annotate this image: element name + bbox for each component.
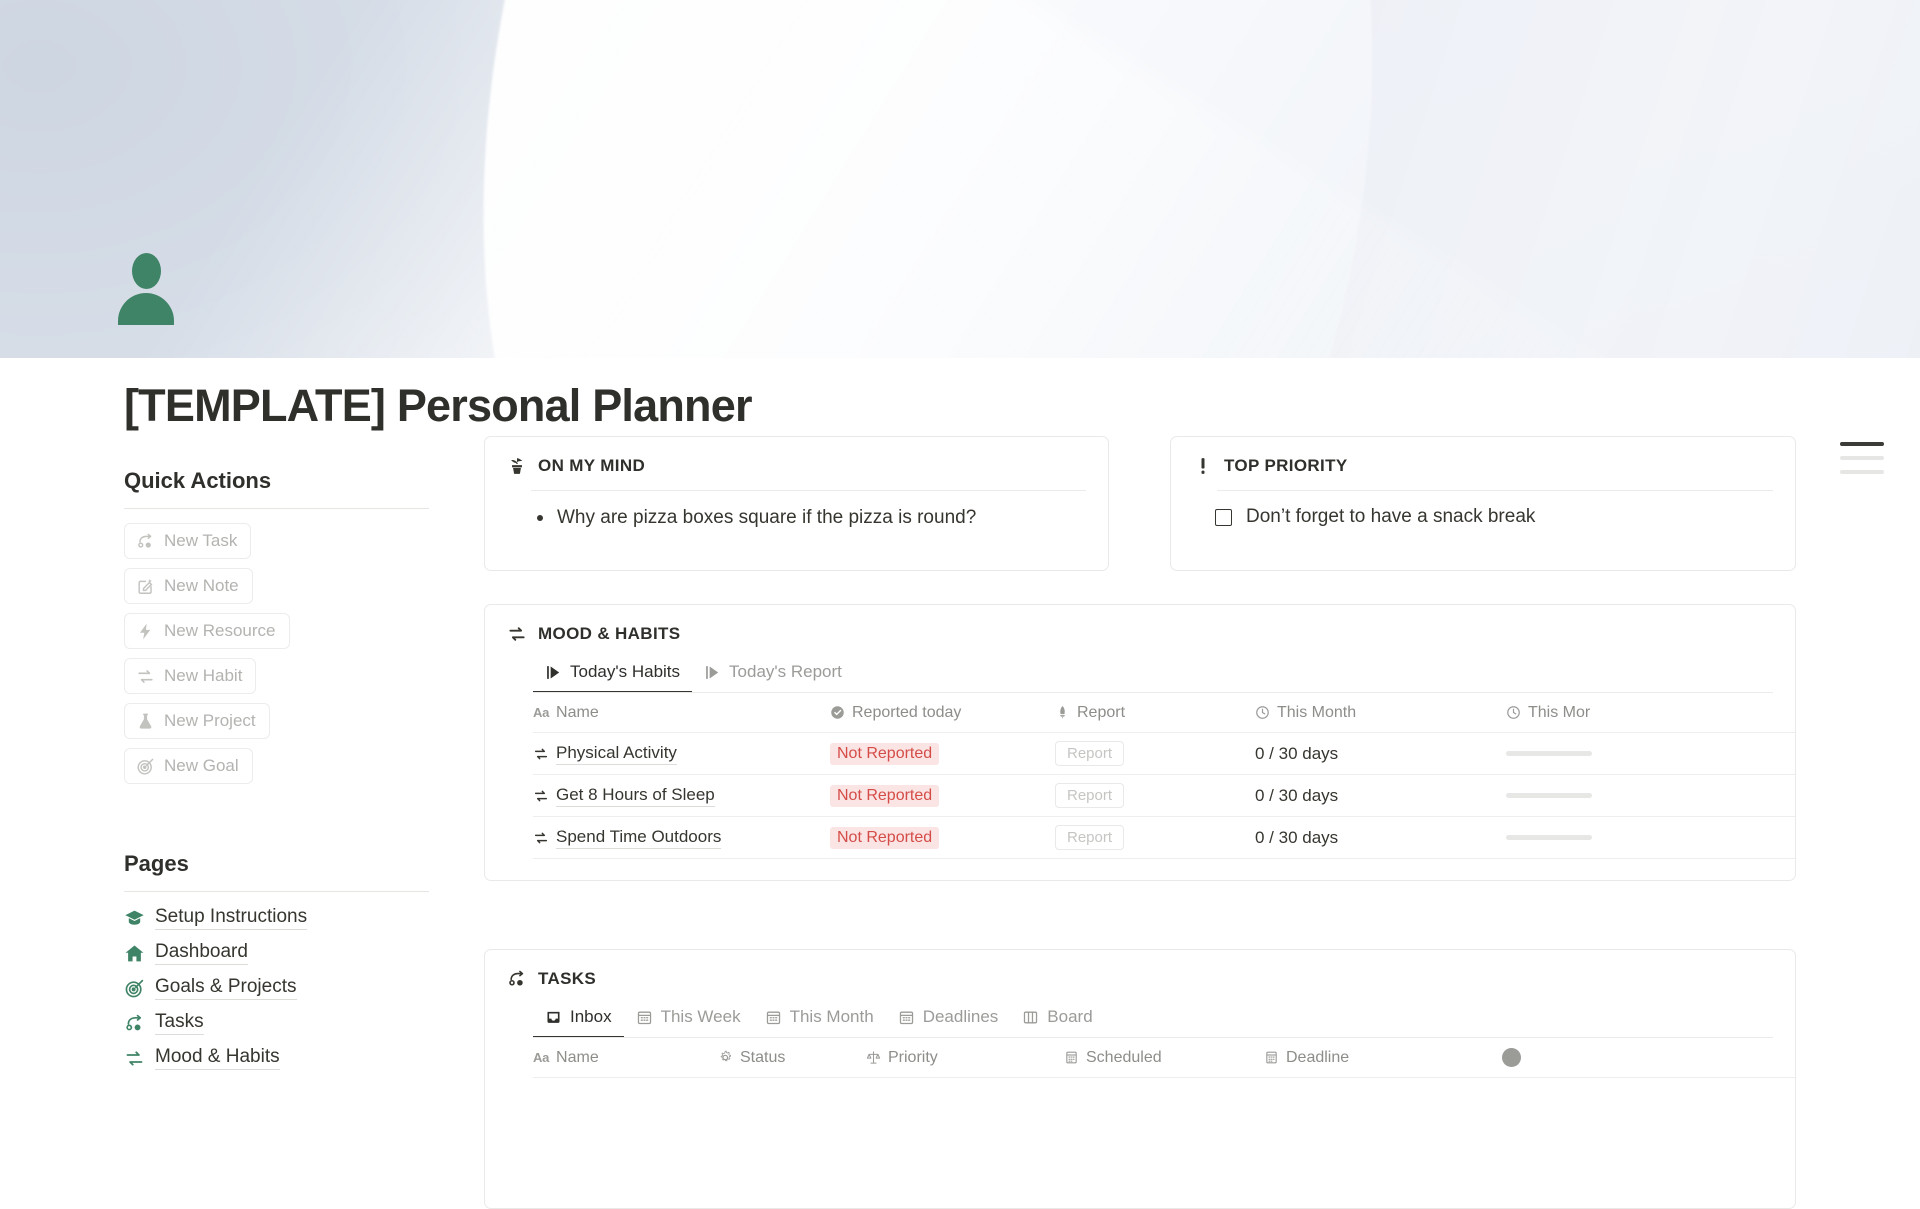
scales-icon [866,1050,881,1065]
sidebar-item-mood-habits[interactable]: Mood & Habits [124,1046,429,1070]
sidebar: Quick Actions New Task New Note New Reso… [124,468,429,1081]
avatar-head [132,253,161,289]
table-header-row: Aa Name Status Priority Scheduled [533,1038,1795,1078]
column-header-status[interactable]: Status [718,1038,866,1077]
table-row[interactable]: Physical Activity Not Reported Report 0 … [533,733,1795,775]
on-my-mind-card: ON MY MIND Why are pizza boxes square if… [484,436,1109,571]
card-header: TOP PRIORITY [1171,437,1795,477]
target-icon [136,757,155,776]
column-header-reported-today[interactable]: Reported today [830,693,1055,732]
home-icon [124,943,145,964]
calendar-icon [1264,1050,1279,1065]
pages-section: Pages Setup Instructions Dashboard Goals… [124,851,429,1070]
quick-action-new-note[interactable]: New Note [124,568,429,613]
habit-name-cell[interactable]: Get 8 Hours of Sleep [533,775,830,816]
quick-action-label: New Project [164,711,256,731]
habit-name[interactable]: Spend Time Outdoors [556,827,721,849]
column-header-name[interactable]: Aa Name [533,1038,718,1077]
quick-action-label: New Note [164,576,239,596]
play-icon [704,664,721,681]
repeat-icon [136,667,155,686]
bullet-icon [537,515,543,521]
flask-icon [136,712,155,731]
toc-line-3[interactable] [1840,470,1884,474]
graduation-cap-icon [124,908,145,929]
tasks-table: Aa Name Status Priority Scheduled [533,1038,1795,1078]
habit-name[interactable]: Get 8 Hours of Sleep [556,785,715,807]
avatar-body [118,293,174,325]
column-header-priority[interactable]: Priority [866,1038,1064,1077]
this-month-progress-cell [1506,775,1706,816]
quick-actions-heading: Quick Actions [124,468,429,508]
list-item-label: Don’t forget to have a snack break [1246,506,1535,528]
report-cell[interactable]: Report [1055,775,1255,816]
column-header-report[interactable]: Report [1055,693,1255,732]
sidebar-item-setup-instructions[interactable]: Setup Instructions [124,906,429,930]
task-icon [507,968,527,990]
column-header-deadline[interactable]: Deadline [1264,1038,1494,1077]
page-icon-avatar[interactable] [118,253,174,325]
quick-action-label: New Resource [164,621,276,641]
aa-text-icon: Aa [533,1050,549,1065]
column-header-name[interactable]: Aa Name [533,693,830,732]
truncated-column-icon [1502,1048,1521,1067]
quick-action-new-project[interactable]: New Project [124,703,429,748]
list-item-label: Why are pizza boxes square if the pizza … [557,507,976,529]
tab-label: Today's Habits [570,662,680,682]
this-month-cell: 0 / 30 days [1255,817,1506,858]
card-title: ON MY MIND [538,456,645,476]
inbox-icon [545,1009,562,1026]
divider [124,891,429,892]
habit-name[interactable]: Physical Activity [556,743,677,765]
plant-pot-icon [507,455,527,477]
gear-icon [718,1050,733,1065]
tab-label: This Month [790,1007,874,1027]
page-cover-banner [0,0,1920,358]
habit-name-cell[interactable]: Spend Time Outdoors [533,817,830,858]
tab-label: This Week [661,1007,741,1027]
quick-action-label: New Goal [164,756,239,776]
tasks-card: TASKS Inbox This Week This Month Deadlin… [484,949,1796,1209]
lightning-bolt-icon [136,622,155,641]
sidebar-item-label: Tasks [155,1011,204,1035]
habits-table: Aa Name Reported today Report This Month [533,693,1795,859]
report-cell[interactable]: Report [1055,733,1255,774]
list-item[interactable]: Don’t forget to have a snack break [1171,491,1795,528]
pages-heading: Pages [124,851,429,891]
clock-icon [1506,705,1521,720]
column-header-scheduled[interactable]: Scheduled [1064,1038,1264,1077]
card-header: TASKS [485,950,1795,990]
tab-board[interactable]: Board [1010,1002,1104,1038]
habit-name-cell[interactable]: Physical Activity [533,733,830,774]
list-item[interactable]: Why are pizza boxes square if the pizza … [485,491,1108,529]
toc-line-2[interactable] [1840,456,1884,460]
reported-today-cell[interactable]: Not Reported [830,733,1055,774]
task-icon [124,1013,145,1034]
table-row[interactable]: Get 8 Hours of Sleep Not Reported Report… [533,775,1795,817]
this-month-cell: 0 / 30 days [1255,733,1506,774]
sidebar-item-label: Mood & Habits [155,1046,280,1070]
column-header-this-month-progress[interactable]: This Mor [1506,693,1706,732]
sidebar-item-label: Goals & Projects [155,976,297,1000]
calendar-icon [765,1009,782,1026]
this-month-cell: 0 / 30 days [1255,775,1506,816]
status-badge: Not Reported [830,785,939,807]
tab-label: Inbox [570,1007,612,1027]
play-icon [545,664,562,681]
table-header-row: Aa Name Reported today Report This Month [533,693,1795,733]
sidebar-item-dashboard[interactable]: Dashboard [124,941,429,965]
board-icon [1022,1009,1039,1026]
table-of-contents[interactable] [1840,442,1886,484]
this-month-progress-cell [1506,817,1706,858]
clock-icon [1255,705,1270,720]
report-button[interactable]: Report [1055,741,1124,766]
tab-todays-habits[interactable]: Today's Habits [533,657,692,693]
calendar-icon [636,1009,653,1026]
quick-action-label: New Task [164,531,237,551]
tasks-tabs: Inbox This Week This Month Deadlines Boa… [485,990,1795,1038]
calendar-icon [1064,1050,1079,1065]
toc-line-1[interactable] [1840,442,1884,446]
quick-action-new-goal[interactable]: New Goal [124,748,429,793]
report-button[interactable]: Report [1055,825,1124,850]
column-header-this-month[interactable]: This Month [1255,693,1506,732]
tab-this-week[interactable]: This Week [624,1002,753,1038]
card-title: MOOD & HABITS [538,624,680,644]
divider [124,508,429,509]
top-priority-card: TOP PRIORITY Don’t forget to have a snac… [1170,436,1796,571]
tab-this-month[interactable]: This Month [753,1002,886,1038]
calendar-icon [898,1009,915,1026]
tab-label: Deadlines [923,1007,999,1027]
repeat-icon [533,746,549,762]
note-edit-icon [136,577,155,596]
repeat-icon [533,830,549,846]
tab-label: Today's Report [729,662,842,682]
progress-bar [1506,751,1592,756]
page-body: [TEMPLATE] Personal Planner Quick Action… [0,358,1920,1199]
sidebar-item-label: Setup Instructions [155,906,307,930]
sidebar-item-goals-projects[interactable]: Goals & Projects [124,976,429,1000]
mood-habits-tabs: Today's Habits Today's Report [485,645,1795,693]
aa-text-icon: Aa [533,705,549,720]
status-badge: Not Reported [830,827,939,849]
this-month-progress-cell [1506,733,1706,774]
card-header: MOOD & HABITS [485,605,1795,645]
task-icon [136,532,155,551]
status-badge: Not Reported [830,743,939,765]
quick-action-new-habit[interactable]: New Habit [124,658,429,703]
sidebar-item-label: Dashboard [155,941,248,965]
repeat-icon [507,623,527,645]
tab-label: Board [1047,1007,1092,1027]
repeat-icon [533,788,549,804]
repeat-icon [124,1048,145,1069]
tab-todays-report[interactable]: Today's Report [692,657,854,693]
tab-inbox[interactable]: Inbox [533,1002,624,1038]
card-title: TASKS [538,969,596,989]
card-title: TOP PRIORITY [1224,456,1348,476]
progress-bar [1506,835,1592,840]
checkbox[interactable] [1215,509,1232,526]
target-icon [124,978,145,999]
check-circle-icon [830,705,845,720]
card-header: ON MY MIND [485,437,1108,477]
mood-habits-card: MOOD & HABITS Today's Habits Today's Rep… [484,604,1796,881]
page-title[interactable]: [TEMPLATE] Personal Planner [124,380,752,432]
rocket-icon [1055,705,1070,720]
progress-bar [1506,793,1592,798]
column-header-truncated[interactable] [1494,1038,1614,1077]
sidebar-item-tasks[interactable]: Tasks [124,1011,429,1035]
report-cell[interactable]: Report [1055,817,1255,858]
quick-action-label: New Habit [164,666,242,686]
report-button[interactable]: Report [1055,783,1124,808]
quick-action-new-resource[interactable]: New Resource [124,613,429,658]
reported-today-cell[interactable]: Not Reported [830,775,1055,816]
quick-action-new-task[interactable]: New Task [124,523,429,568]
table-row[interactable]: Spend Time Outdoors Not Reported Report … [533,817,1795,859]
tab-deadlines[interactable]: Deadlines [886,1002,1011,1038]
exclamation-icon [1193,455,1213,477]
reported-today-cell[interactable]: Not Reported [830,817,1055,858]
